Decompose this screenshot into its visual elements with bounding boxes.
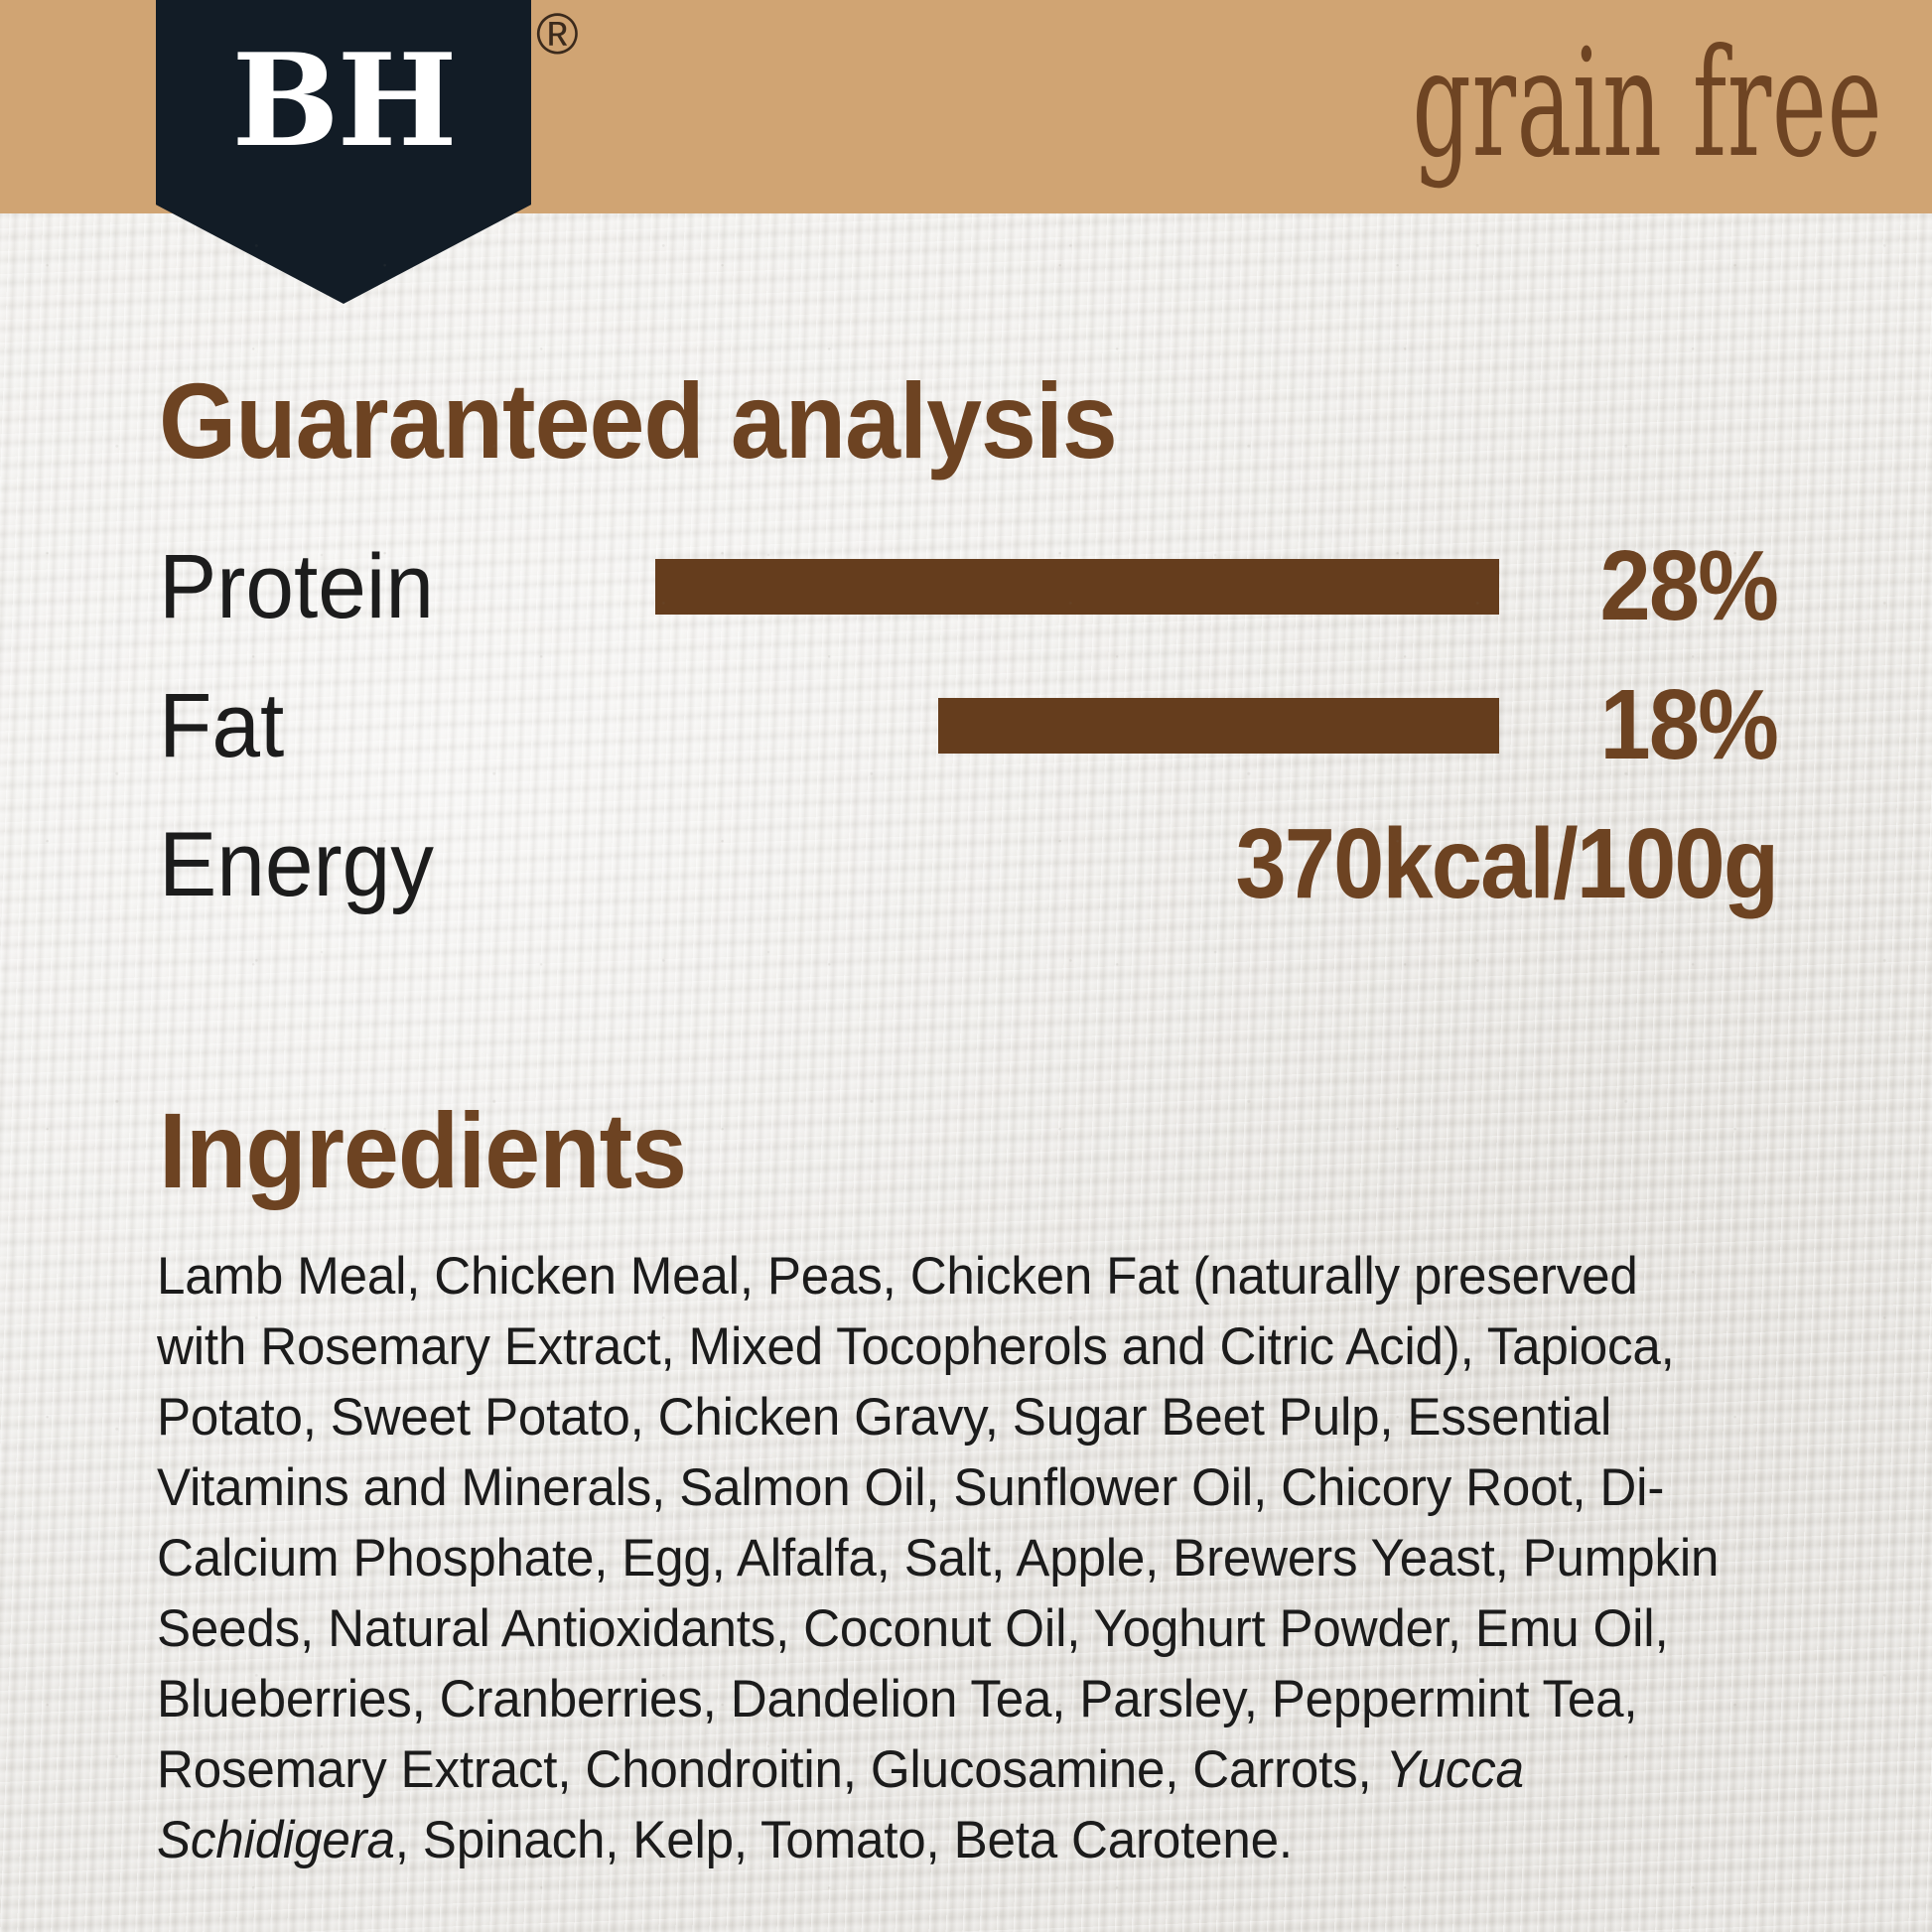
analysis-value-energy: 370kcal/100g [1235, 807, 1777, 920]
analysis-label-fat: Fat [159, 670, 284, 781]
analysis-label-energy: Energy [159, 809, 434, 920]
ingredients-text-last: , Spinach, Kelp, Tomato, Beta Carotene. [395, 1811, 1293, 1869]
ingredients-text-first: Lamb Meal, Chicken Meal, Peas, Chicken F… [157, 1247, 1719, 1799]
analysis-row-energy: Energy 370kcal/100g [0, 809, 1932, 948]
registered-trademark-icon: ® [536, 6, 579, 64]
grain-free-tagline: grain free [1412, 16, 1882, 193]
analysis-label-protein: Protein [159, 531, 434, 642]
analysis-bar-fat [938, 698, 1499, 754]
analysis-value-fat: 18% [1599, 668, 1777, 781]
guaranteed-analysis-chart: Protein 28% Fat 18% Energy 370kcal/100g [0, 531, 1932, 948]
brand-monogram: BH [156, 38, 531, 165]
analysis-value-protein: 28% [1599, 529, 1777, 642]
analysis-row-fat: Fat 18% [0, 670, 1932, 809]
product-label-page: grain free BH ® Guaranteed analysis Prot… [0, 0, 1932, 1932]
guaranteed-analysis-title: Guaranteed analysis [159, 367, 1117, 475]
brand-shield-logo: BH [156, 0, 531, 304]
analysis-row-protein: Protein 28% [0, 531, 1932, 670]
ingredients-title: Ingredients [159, 1097, 686, 1204]
ingredients-list: Lamb Meal, Chicken Meal, Peas, Chicken F… [157, 1241, 1728, 1875]
analysis-bar-protein [655, 559, 1499, 615]
